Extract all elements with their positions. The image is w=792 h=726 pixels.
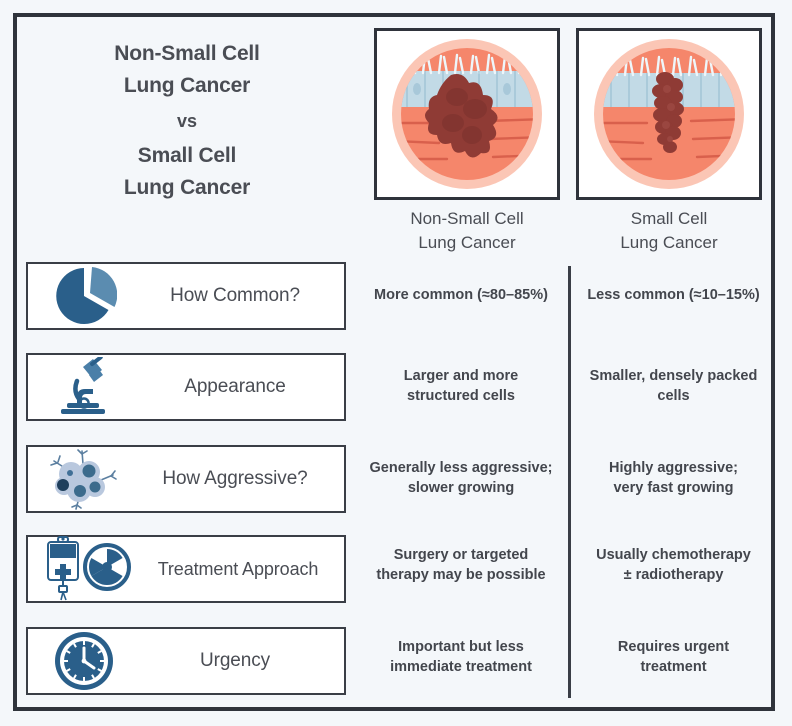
page-title: Non-Small Cell Lung Cancer vs Small Cell… (22, 38, 352, 204)
cell-line-1: Smaller, densely packed (572, 366, 775, 386)
cell-nsclc-urgency: Important but less immediate treatment (357, 637, 565, 677)
title-line-2: Lung Cancer (22, 70, 352, 102)
cell-sclc-how-aggressive: Highly aggressive; very fast growing (572, 458, 775, 498)
cell-nsclc-treatment-approach: Surgery or targeted therapy may be possi… (357, 545, 565, 585)
sclc-tumor-illustration (579, 31, 759, 197)
row-treatment-approach[interactable]: Treatment Approach (26, 535, 346, 603)
cell-line-1: Less common (≈10–15%) (572, 285, 775, 305)
title-line-1: Non-Small Cell (22, 38, 352, 70)
row-how-common[interactable]: How Common? (26, 262, 346, 330)
row-label-appearance: Appearance (140, 376, 344, 398)
title-line-3: Small Cell (22, 140, 352, 172)
cancer-cell-cluster-icon (28, 447, 140, 511)
iv-bag-sub-icon (48, 537, 78, 600)
row-how-aggressive[interactable]: How Aggressive? (26, 445, 346, 513)
row-label-how-aggressive: How Aggressive? (140, 468, 344, 490)
cell-line-1: Usually chemotherapy (572, 545, 775, 565)
cell-line-1: Requires urgent (572, 637, 775, 657)
cell-line-1: More common (≈80–85%) (357, 285, 565, 305)
nsclc-image-panel (374, 28, 560, 200)
cell-sclc-appearance: Smaller, densely packed cells (572, 366, 775, 406)
sclc-caption-line-2: Lung Cancer (569, 231, 769, 255)
row-label-treatment-approach: Treatment Approach (140, 559, 344, 580)
title-vs: vs (22, 102, 352, 140)
cell-line-2: therapy may be possible (357, 565, 565, 585)
radiation-sub-icon (85, 545, 129, 589)
cell-sclc-how-common: Less common (≈10–15%) (572, 285, 775, 305)
cell-line-1: Surgery or targeted (357, 545, 565, 565)
cell-nsclc-how-common: More common (≈80–85%) (357, 285, 565, 305)
column-divider (568, 266, 571, 698)
nsclc-column-caption: Non-Small Cell Lung Cancer (367, 207, 567, 255)
cell-line-2: immediate treatment (357, 657, 565, 677)
cell-line-1: Highly aggressive; (572, 458, 775, 478)
row-label-how-common: How Common? (140, 285, 344, 307)
nsclc-tumor-illustration (377, 31, 557, 197)
cell-line-2: very fast growing (572, 478, 775, 498)
sclc-caption-line-1: Small Cell (569, 207, 769, 231)
cell-line-1: Larger and more (357, 366, 565, 386)
row-appearance[interactable]: Appearance (26, 353, 346, 421)
cell-sclc-urgency: Requires urgent treatment (572, 637, 775, 677)
row-label-urgency: Urgency (140, 650, 344, 672)
clock-icon (28, 629, 140, 693)
microscope-icon (28, 355, 140, 419)
cell-nsclc-appearance: Larger and more structured cells (357, 366, 565, 406)
cell-sclc-treatment-approach: Usually chemotherapy ± radiotherapy (572, 545, 775, 585)
cell-line-2: slower growing (357, 478, 565, 498)
row-urgency[interactable]: Urgency (26, 627, 346, 695)
title-line-4: Lung Cancer (22, 172, 352, 204)
cell-line-2: ± radiotherapy (572, 565, 775, 585)
cell-line-1: Important but less (357, 637, 565, 657)
nsclc-caption-line-2: Lung Cancer (367, 231, 567, 255)
sclc-image-panel (576, 28, 762, 200)
cell-line-1: Generally less aggressive; (357, 458, 565, 478)
cell-nsclc-how-aggressive: Generally less aggressive; slower growin… (357, 458, 565, 498)
nsclc-caption-line-1: Non-Small Cell (367, 207, 567, 231)
infographic-root: Non-Small Cell Lung Cancer vs Small Cell… (0, 0, 792, 726)
cell-line-2: treatment (572, 657, 775, 677)
cell-line-2: cells (572, 386, 775, 406)
sclc-column-caption: Small Cell Lung Cancer (569, 207, 769, 255)
pie-chart-icon (28, 264, 140, 328)
iv-bag-and-radiation-icon (28, 537, 140, 601)
cell-line-2: structured cells (357, 386, 565, 406)
